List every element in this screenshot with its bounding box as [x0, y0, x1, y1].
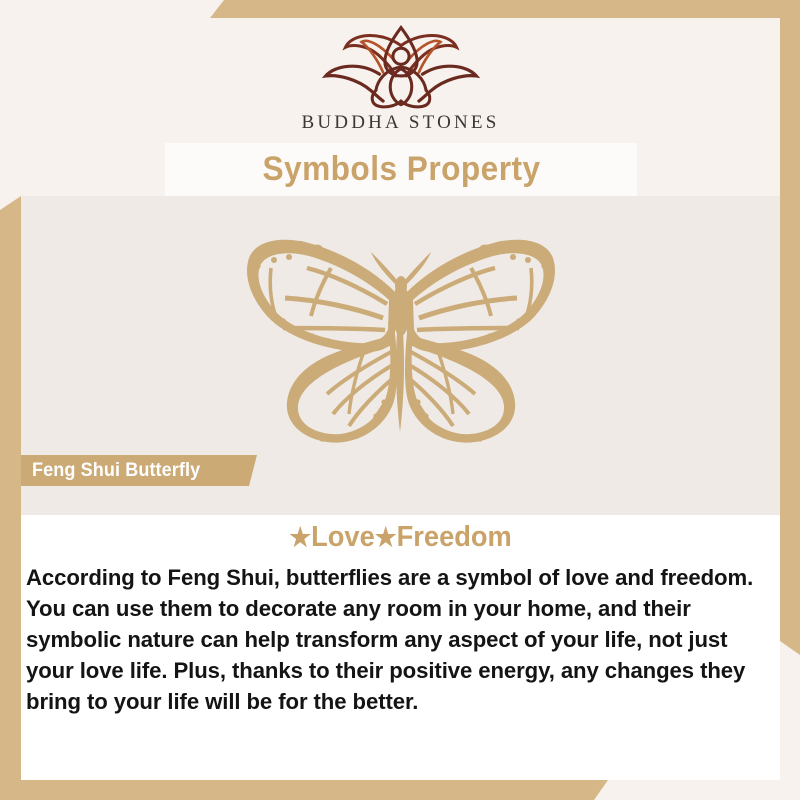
subtitle-word-freedom: Freedom [397, 521, 512, 553]
frame-band-top [210, 0, 800, 18]
content-body-text: According to Feng Shui, butterflies are … [26, 562, 765, 717]
frame-band-right [780, 0, 800, 655]
brand-logo: BUDDHA STONES [21, 24, 780, 134]
page-title: Symbols Property [262, 150, 540, 189]
section-tag-label: Feng Shui Butterfly [32, 460, 200, 482]
lotus-meditation-icon [311, 24, 491, 110]
header: BUDDHA STONES [21, 18, 780, 138]
frame-band-left [0, 196, 21, 800]
star-icon-middle: ★ [375, 522, 397, 552]
page-title-band: Symbols Property [165, 143, 637, 196]
section-tag-banner: Feng Shui Butterfly [21, 455, 257, 486]
frame-band-bottom [0, 780, 608, 800]
brand-name: BUDDHA STONES [21, 112, 780, 134]
content-panel: ★Love★Freedom According to Feng Shui, bu… [21, 515, 780, 780]
subtitle-word-love: Love [311, 521, 375, 553]
butterfly-icon [211, 224, 591, 456]
star-icon-left: ★ [289, 522, 311, 552]
content-subtitle: ★Love★Freedom [44, 521, 757, 554]
page-root: BUDDHA STONES Symbols Property [0, 0, 800, 800]
